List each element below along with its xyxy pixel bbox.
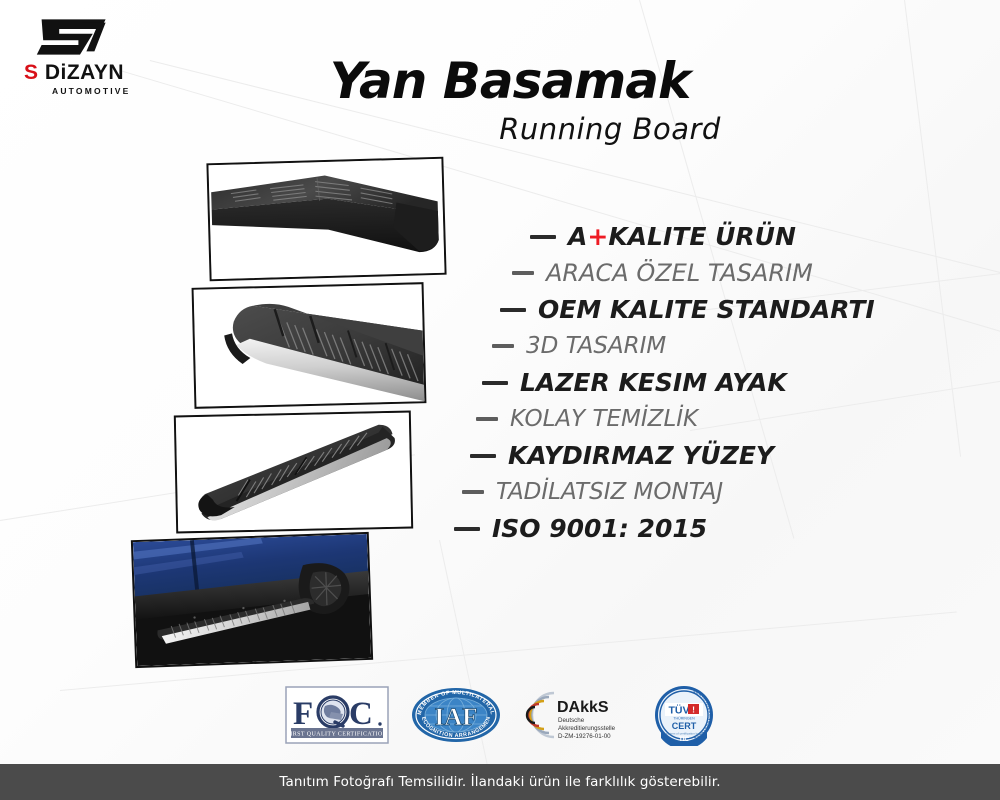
feature-item: ISO 9001: 2015 [454,514,910,543]
feature-item: KOLAY TEMİZLİK [476,406,910,432]
brand-logo: S DiZAYN AUTOMOTIVE [24,14,149,94]
certificate-badge-dakks: DAkkS Deutsche Akkreditierungsstelle D-Z… [524,687,632,743]
feature-label: KOLAY TEMİZLİK [510,406,698,432]
bullet-dash-icon [476,417,498,421]
feature-item: KAYDIRMAZ YÜZEY [470,441,910,470]
feature-item: TADİLATSIZ MONTAJ [462,479,910,505]
brand-tagline: AUTOMOTIVE [52,86,149,96]
tuv-small-text: system of certification body [666,732,703,736]
footer-bar: Tanıtım Fotoğrafı Temsilidir. İlandaki ü… [0,764,1000,800]
brand-name: DiZAYN [45,61,124,84]
dakks-acronym: DAkkS [557,699,609,716]
brand-name-prefix: S [24,61,39,84]
s-dizayn-logo-mark [32,14,120,60]
tuv-acronym: TÜV [668,704,689,717]
feature-label: ISO 9001: 2015 [492,514,707,543]
tuv-cert-text: CERT [672,721,697,731]
bullet-dash-icon [470,454,496,458]
dakks-line2: Akkreditierungsstelle [558,725,616,732]
product-photo-top-tread [192,282,427,409]
certification-badges: F C FIRST QUALITY CERTIFICATION [285,683,715,747]
tuv-bottom-text: TIC [679,736,690,743]
feature-item: A+KALITE ÜRÜN [530,222,910,251]
product-photo-closeup-black [206,157,446,282]
product-photo-full-angled [174,411,413,534]
running-board-illustration [176,413,411,532]
running-board-illustration [194,284,425,407]
feature-label: A+KALITE ÜRÜN [568,222,796,251]
certificate-badge-fqc: F C FIRST QUALITY CERTIFICATION [285,686,389,744]
bullet-dash-icon [492,344,514,348]
feature-item: LAZER KESIM AYAK [482,368,910,397]
feature-label: TADİLATSIZ MONTAJ [496,479,723,505]
page-title: Yan Basamak [300,52,720,110]
svg-text:!: ! [692,705,695,715]
feature-label: KAYDIRMAZ YÜZEY [508,441,774,470]
product-photo-mounted-on-vehicle [131,532,373,668]
certificate-badge-tuv: ZERTIFIZIERUNGSSTELLE TÜV ! THÜRINGEN CE… [653,684,715,746]
feature-label: OEM KALITE STANDARTI [538,295,875,324]
svg-text:F: F [293,696,313,732]
page-subtitle: Running Board [420,112,800,146]
running-board-illustration [208,159,444,279]
fqc-logo-icon: F C FIRST QUALITY CERTIFICATION [285,686,389,744]
dakks-line3: D-ZM-19276-01-00 [558,733,611,740]
iaf-acronym: IAF [435,704,478,731]
certificate-badge-iaf: IAF MEMBER OF MULTILATERAL RECOGNITION A… [410,686,502,744]
vehicle-with-running-board-illustration [133,534,371,666]
feature-label: 3D TASARIM [526,333,666,359]
advertisement-canvas: S DiZAYN AUTOMOTIVE Yan Basamak Running … [0,0,1000,800]
dakks-line1: Deutsche [558,717,585,724]
feature-label: ARACA ÖZEL TASARIM [546,259,813,287]
tuv-cert-logo-icon: ZERTIFIZIERUNGSSTELLE TÜV ! THÜRINGEN CE… [653,684,715,746]
feature-item: ARACA ÖZEL TASARIM [512,259,910,287]
feature-item: OEM KALITE STANDARTI [500,295,910,324]
bullet-dash-icon [454,527,480,531]
footer-disclaimer: Tanıtım Fotoğrafı Temsilidir. İlandaki ü… [279,774,720,790]
bullet-dash-icon [462,490,484,494]
dakks-logo-icon: DAkkS Deutsche Akkreditierungsstelle D-Z… [524,687,632,743]
bullet-dash-icon [512,271,534,275]
bullet-dash-icon [530,235,556,239]
brand-wordmark: S DiZAYN [24,62,149,83]
bullet-dash-icon [500,308,526,312]
feature-list: A+KALITE ÜRÜN ARACA ÖZEL TASARIM OEM KAL… [470,222,910,543]
background-line [439,540,502,800]
feature-label: LAZER KESIM AYAK [520,368,787,397]
iaf-logo-icon: IAF MEMBER OF MULTILATERAL RECOGNITION A… [410,686,502,744]
svg-text:C: C [349,696,373,732]
feature-item: 3D TASARIM [492,333,910,359]
fqc-caption: FIRST QUALITY CERTIFICATION [287,732,388,738]
background-line [904,0,961,457]
tuv-sub: THÜRINGEN [673,717,695,721]
bullet-dash-icon [482,381,508,385]
